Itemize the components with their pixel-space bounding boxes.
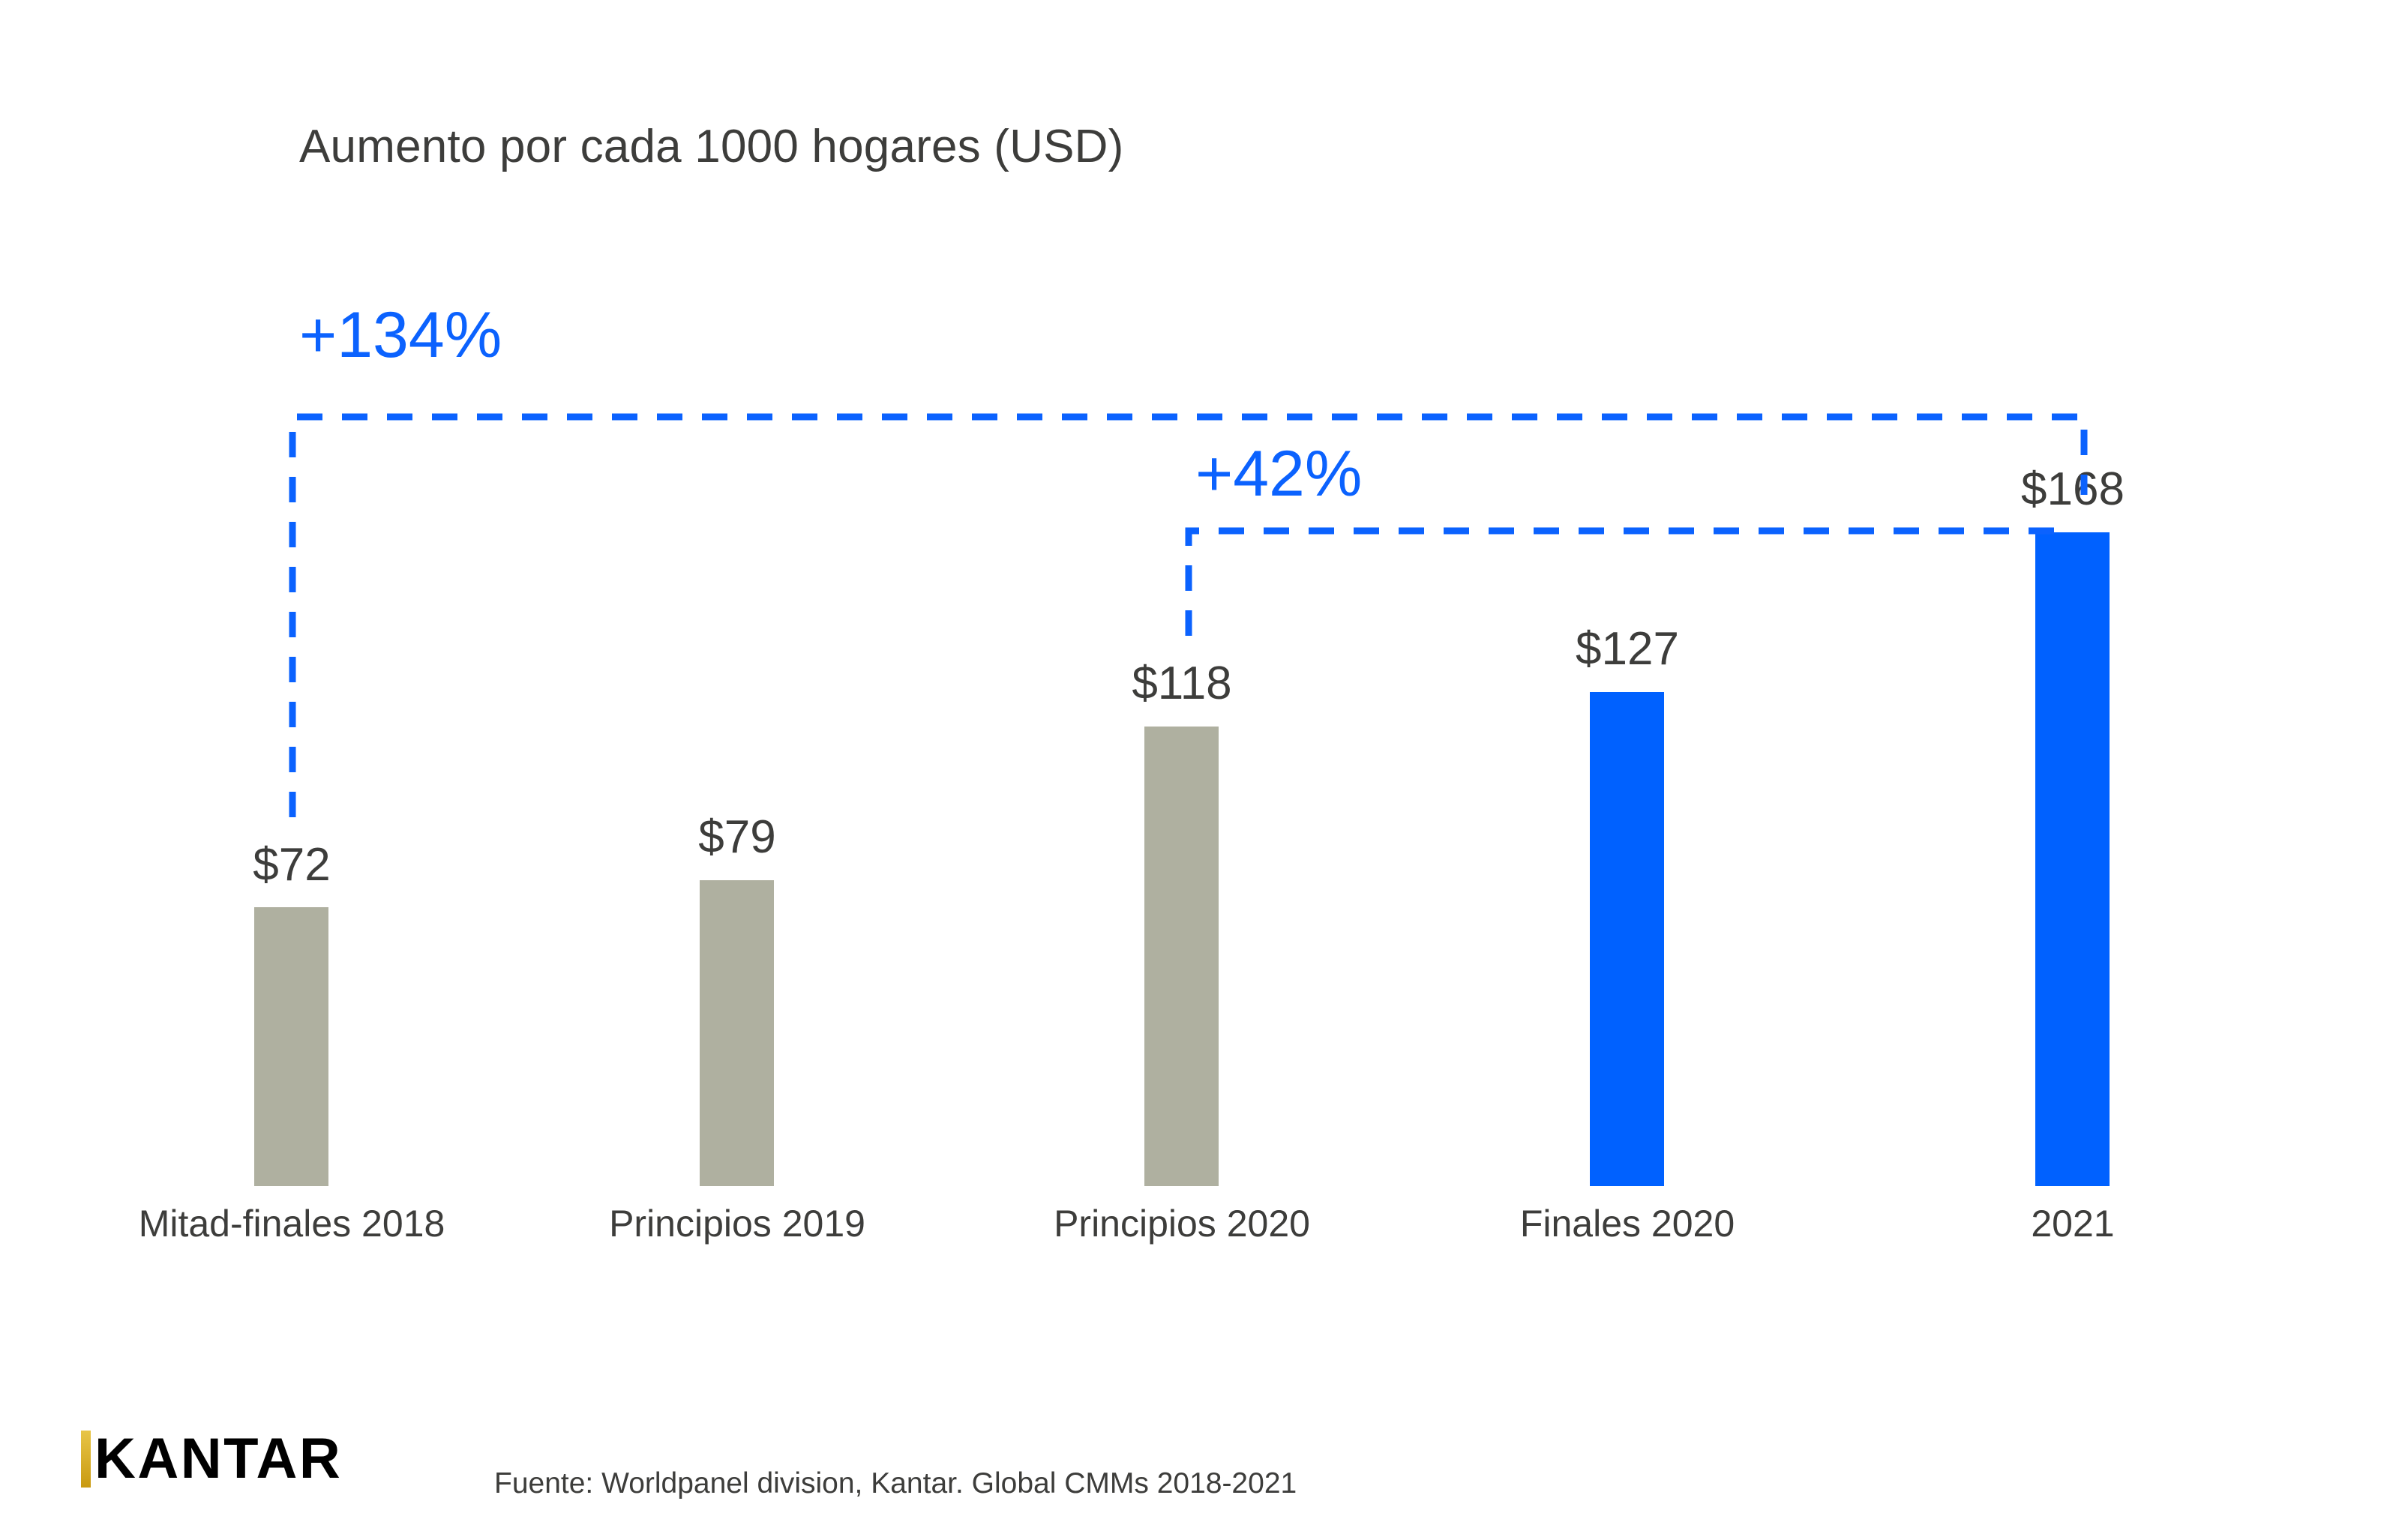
bar-value-finales-2020: $127 [1552,622,1702,676]
bar-principios-2020 [1144,727,1219,1186]
logo-accent-bar-icon [81,1431,91,1488]
bar-principios-2019 [700,880,774,1186]
annotation-label-134-percent: +134% [299,298,502,373]
bar-value-principios-2019: $79 [662,810,812,864]
category-label-finales-2020: Finales 2020 [1440,1202,1815,1245]
bar-value-mitad-finales-2018: $72 [217,838,367,891]
category-label-principios-2020: Principios 2020 [994,1202,1369,1245]
kantar-logo: KANTAR [81,1431,342,1488]
source-note: Fuente: Worldpanel division, Kantar. Glo… [494,1467,1297,1500]
category-label-mitad-finales-2018: Mitad-finales 2018 [104,1202,479,1245]
bar-value-principios-2020: $118 [1107,657,1257,710]
logo-wordmark: KANTAR [94,1431,342,1488]
bar-2021 [2035,532,2110,1186]
bar-finales-2020 [1590,692,1664,1186]
bar-mitad-finales-2018 [254,907,328,1186]
chart-plot-area: $72 Mitad-finales 2018 $79 Principios 20… [0,0,2384,1540]
annotation-label-42-percent: +42% [1195,437,1362,511]
category-label-2021: 2021 [1885,1202,2260,1245]
category-label-principios-2019: Principios 2019 [550,1202,925,1245]
connector-42-percent [1189,531,2070,636]
slide-canvas: Aumento por cada 1000 hogares (USD) $72 … [0,0,2384,1540]
bar-value-2021: $168 [1998,463,2148,516]
